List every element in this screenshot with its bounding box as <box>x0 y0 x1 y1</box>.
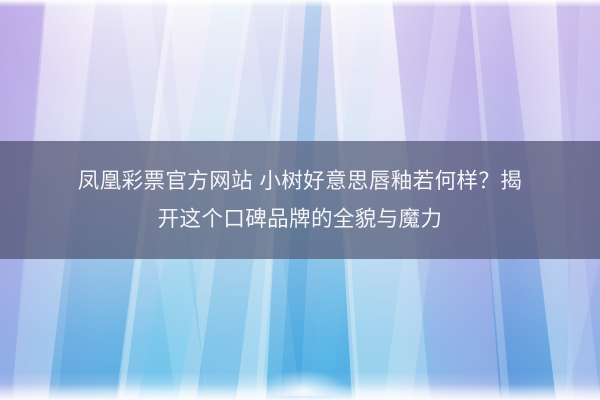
caption-line-2: 开这个口碑品牌的全貌与魔力 <box>158 200 443 238</box>
bottom-center-glow <box>258 370 348 396</box>
top-edge-highlight <box>0 0 600 7</box>
caption-overlay-band: 凤凰彩票官方网站 小树好意思唇釉若何样？揭 开这个口碑品牌的全貌与魔力 <box>0 141 600 259</box>
banner-image: 凤凰彩票官方网站 小树好意思唇釉若何样？揭 开这个口碑品牌的全貌与魔力 <box>0 0 600 400</box>
caption-line-1: 凤凰彩票官方网站 小树好意思唇釉若何样？揭 <box>78 162 522 200</box>
